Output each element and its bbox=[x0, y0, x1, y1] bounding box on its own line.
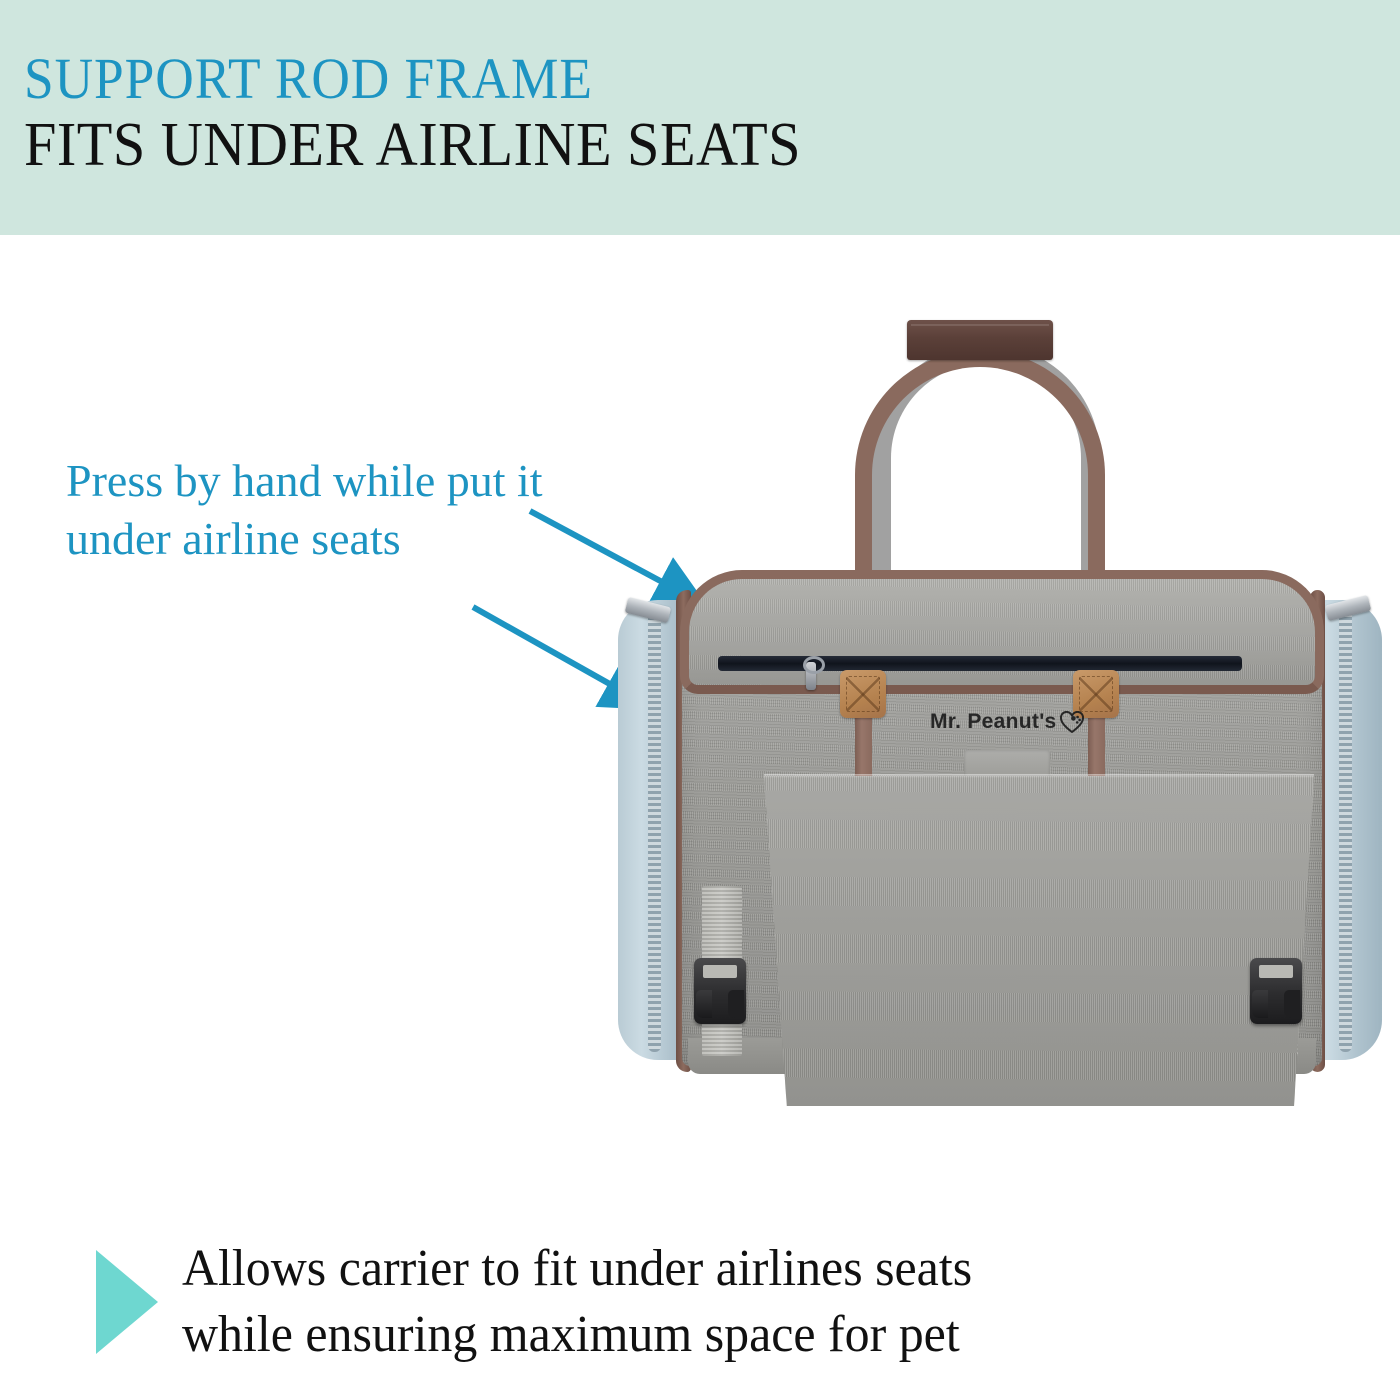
top-zipper bbox=[718, 656, 1242, 671]
header-title-primary: SUPPORT ROD FRAME bbox=[24, 48, 593, 110]
handle-grip-wrap bbox=[907, 320, 1053, 360]
zipper-teeth-right bbox=[1339, 608, 1352, 1052]
caption-text: Allows carrier to fit under airlines sea… bbox=[182, 1236, 972, 1368]
buckle-left bbox=[694, 958, 746, 1024]
buckle-right bbox=[1250, 958, 1302, 1024]
pet-carrier-bag: Mr. Peanut's bbox=[610, 318, 1390, 1108]
triangle-bullet-icon bbox=[96, 1250, 160, 1354]
caption-line-1: Allows carrier to fit under airlines sea… bbox=[182, 1236, 972, 1302]
velcro-tab bbox=[964, 750, 1050, 778]
anchor-patch-left bbox=[840, 670, 886, 718]
zipper-teeth-left bbox=[648, 608, 661, 1052]
header-band: SUPPORT ROD FRAME FITS UNDER AIRLINE SEA… bbox=[0, 0, 1400, 235]
front-pocket bbox=[744, 776, 1314, 1106]
top-zipper-pull-icon bbox=[806, 662, 816, 690]
bag-lid bbox=[686, 576, 1318, 688]
bottom-caption: Allows carrier to fit under airlines sea… bbox=[96, 1236, 1296, 1368]
brand-logo: Mr. Peanut's bbox=[930, 710, 1084, 734]
caption-line-2: while ensuring maximum space for pet bbox=[182, 1302, 972, 1368]
brand-name: Mr. Peanut's bbox=[930, 710, 1056, 734]
header-title-secondary: FITS UNDER AIRLINE SEATS bbox=[24, 112, 801, 178]
infographic-page: SUPPORT ROD FRAME FITS UNDER AIRLINE SEA… bbox=[0, 0, 1400, 1400]
heart-paw-icon bbox=[1060, 711, 1084, 733]
